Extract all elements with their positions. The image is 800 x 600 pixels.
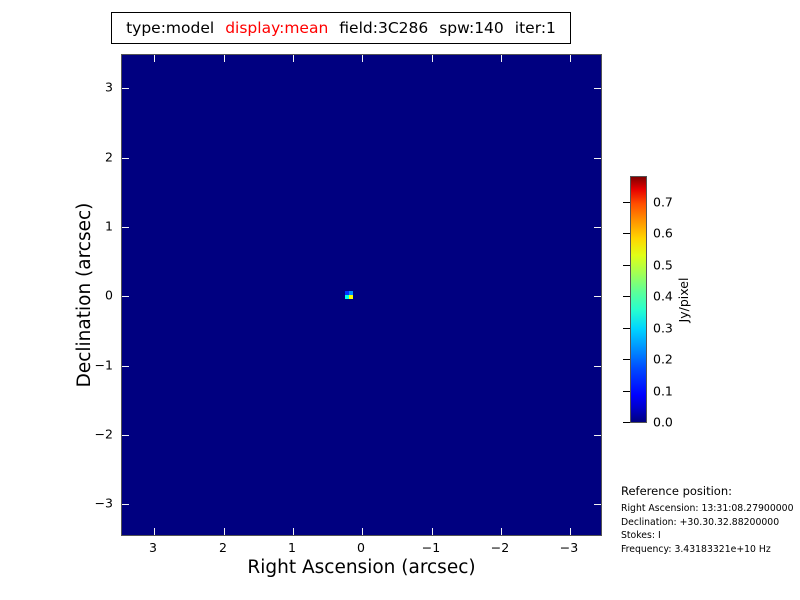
colorbar-unit-label: Jy/pixel <box>676 278 691 323</box>
title-segment-field: field:3C286 <box>339 19 428 37</box>
y-tick-mark-right <box>594 435 601 436</box>
sky-image-raster <box>122 55 601 535</box>
colorbar-tick-label: 0.5 <box>653 258 673 273</box>
y-tick-mark <box>122 504 129 505</box>
x-tick-mark-top <box>293 55 294 62</box>
colorbar-tick-label: 0.7 <box>653 195 673 210</box>
y-tick-mark-right <box>594 88 601 89</box>
x-tick-mark-top <box>570 55 571 62</box>
title-segment-iter: iter:1 <box>515 19 556 37</box>
x-tick-mark <box>154 528 155 535</box>
colorbar-tick-label: 0.0 <box>653 415 673 430</box>
x-tick-mark <box>362 528 363 535</box>
x-tick-mark-top <box>432 55 433 62</box>
y-tick-mark-right <box>594 504 601 505</box>
x-tick-mark-top <box>501 55 502 62</box>
y-tick-mark-right <box>594 158 601 159</box>
model-point-source-core <box>349 295 353 299</box>
sky-image-axes[interactable] <box>121 54 602 536</box>
colorbar-tick-mark <box>623 359 630 360</box>
reference-position-heading: Reference position: <box>621 484 799 498</box>
colorbar-tick-label: 0.1 <box>653 384 673 399</box>
x-tick-mark-top <box>154 55 155 62</box>
reference-position-right-ascension: Right Ascension: 13:31:08.27900000 <box>621 502 799 516</box>
title-segment-display: display:mean <box>225 19 328 37</box>
colorbar-tick-mark <box>623 296 630 297</box>
x-tick-mark <box>570 528 571 535</box>
colorbar-tick-mark <box>623 233 630 234</box>
x-tick-label: −2 <box>491 540 509 555</box>
y-tick-mark <box>122 296 129 297</box>
y-tick-mark <box>122 435 129 436</box>
x-tick-mark <box>432 528 433 535</box>
x-tick-label: −3 <box>560 540 578 555</box>
title-segment-type: type:model <box>126 19 214 37</box>
x-tick-label: 2 <box>219 540 227 555</box>
x-tick-mark-top <box>224 55 225 62</box>
colorbar-tick-label: 0.6 <box>653 226 673 241</box>
colorbar-tick-label: 0.4 <box>653 289 673 304</box>
x-axis-title: Right Ascension (arcsec) <box>121 557 602 578</box>
y-axis-title: Declination (arcsec) <box>74 54 95 536</box>
colorbar-tick-mark <box>623 391 630 392</box>
y-tick-mark <box>122 88 129 89</box>
y-tick-mark <box>122 227 129 228</box>
title-segment-spw: spw:140 <box>439 19 504 37</box>
colorbar-tick-label: 0.2 <box>653 352 673 367</box>
reference-position-block: Reference position: Right Ascension: 13:… <box>621 484 799 556</box>
x-tick-mark <box>293 528 294 535</box>
x-tick-mark-top <box>362 55 363 62</box>
reference-position-stokes: Stokes: I <box>621 529 799 543</box>
x-tick-label: 0 <box>357 540 365 555</box>
y-tick-mark-right <box>594 227 601 228</box>
colorbar-tick-mark <box>623 202 630 203</box>
y-tick-mark-right <box>594 296 601 297</box>
reference-position-frequency: Frequency: 3.43183321e+10 Hz <box>621 543 799 557</box>
x-tick-label: 3 <box>149 540 157 555</box>
reference-position-declination: Declination: +30.30.32.88200000 <box>621 516 799 530</box>
x-tick-label: 1 <box>288 540 296 555</box>
colorbar-tick-mark <box>623 265 630 266</box>
x-tick-mark <box>224 528 225 535</box>
y-tick-mark-right <box>594 366 601 367</box>
y-tick-mark <box>122 158 129 159</box>
colorbar-gradient[interactable] <box>630 176 647 423</box>
x-tick-mark <box>501 528 502 535</box>
y-tick-mark <box>122 366 129 367</box>
colorbar-tick-label: 0.3 <box>653 321 673 336</box>
x-tick-label: −1 <box>422 540 440 555</box>
colorbar-tick-mark <box>623 422 630 423</box>
image-info-title-bar: type:model display:mean field:3C286 spw:… <box>111 12 571 44</box>
colorbar-tick-mark <box>623 328 630 329</box>
